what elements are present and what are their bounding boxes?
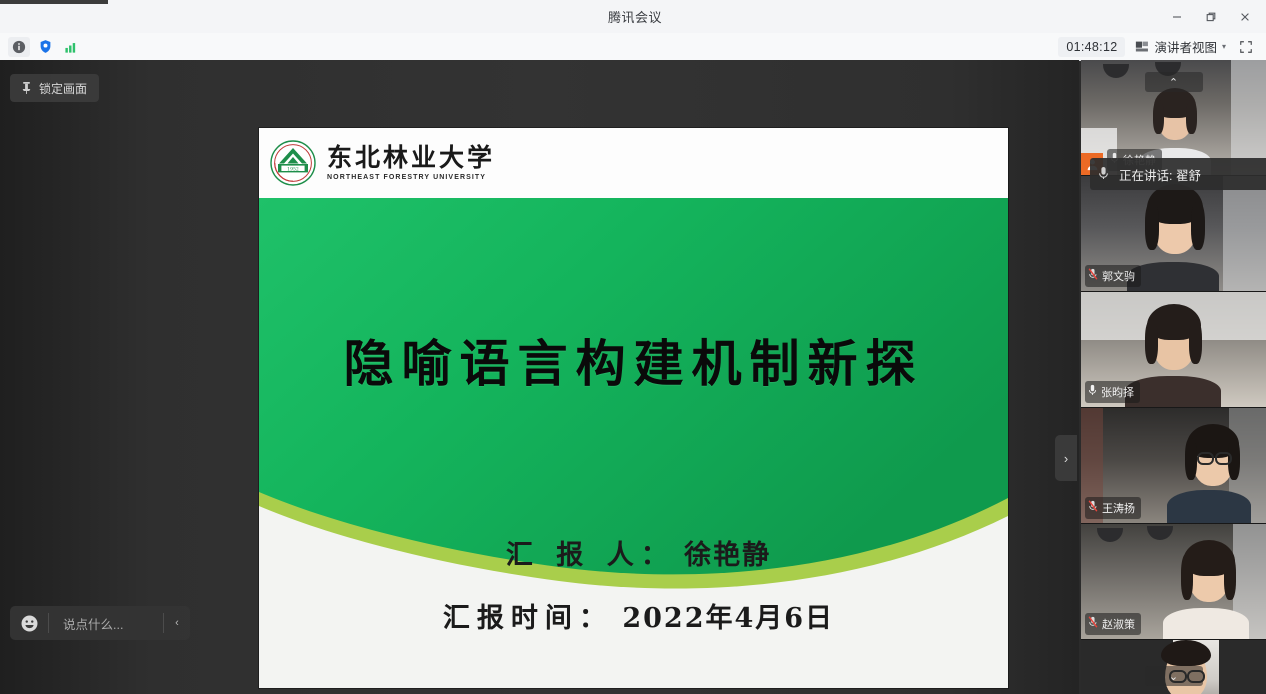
chat-input-bar[interactable]: 说点什么... ‹	[10, 606, 190, 640]
mic-on-icon	[1088, 383, 1097, 401]
scroll-down-button[interactable]: ⌄	[1145, 666, 1203, 686]
participant-name-chip: 王涛扬	[1085, 497, 1141, 519]
participant-video-strip[interactable]: 徐艳静 郭文驹	[1081, 60, 1266, 694]
network-signal-icon[interactable]	[60, 37, 82, 57]
date-label: 汇报时间：	[443, 603, 613, 634]
lock-screen-label: 锁定画面	[39, 80, 87, 97]
info-icon[interactable]	[8, 37, 30, 57]
restore-button[interactable]	[1194, 1, 1228, 33]
speaking-toast-text: 正在讲话: 翟舒	[1119, 165, 1201, 184]
participant-tile[interactable]: 郭文驹	[1081, 176, 1266, 292]
university-logo: 1952 东北林业大学 NORTHEAST FORESTRY UNIVERSIT…	[269, 139, 495, 187]
logo-text-block: 东北林业大学 NORTHEAST FORESTRY UNIVERSITY	[327, 145, 495, 181]
mic-muted-icon	[1088, 267, 1098, 285]
presentation-slide: 1952 东北林业大学 NORTHEAST FORESTRY UNIVERSIT…	[259, 128, 1008, 688]
logo-name-cn: 东北林业大学	[327, 145, 495, 170]
mic-muted-icon	[1088, 499, 1098, 517]
shield-icon[interactable]	[34, 37, 56, 57]
slide-title: 隐喻语言构建机制新探	[259, 324, 1008, 396]
mic-muted-icon	[1088, 615, 1098, 633]
lock-screen-button[interactable]: 锁定画面	[10, 74, 99, 102]
participant-tile[interactable]: 赵淑策	[1081, 524, 1266, 640]
collapse-panel-button[interactable]: ›	[1055, 435, 1077, 481]
participant-name: 张昀择	[1101, 384, 1134, 400]
presenter-label: 汇 报 人：	[506, 540, 675, 571]
window-controls	[1160, 0, 1266, 33]
participant-name: 郭文驹	[1102, 268, 1135, 284]
tencent-meeting-window: 腾讯会议	[0, 0, 1266, 694]
participant-tile[interactable]: 王涛扬	[1081, 408, 1266, 524]
emoji-icon[interactable]	[10, 606, 48, 640]
speaking-toast: 正在讲话: 翟舒	[1090, 158, 1266, 190]
participant-name-chip: 郭文驹	[1085, 265, 1141, 287]
view-mode-label: 演讲者视图	[1154, 37, 1217, 56]
svg-text:1952: 1952	[287, 166, 299, 172]
slide-meta-row: 汇 报 人： 徐艳静	[259, 533, 1008, 572]
date-value: 2022年4月6日	[622, 603, 834, 634]
slide-header: 1952 东北林业大学 NORTHEAST FORESTRY UNIVERSIT…	[259, 128, 1008, 198]
view-mode-selector[interactable]: 演讲者视图 ▾	[1135, 37, 1226, 56]
titlebar-left-spacer	[0, 0, 110, 33]
pin-icon	[20, 81, 33, 95]
chat-input[interactable]: 说点什么...	[49, 606, 163, 640]
toolbar-icon-group	[0, 37, 82, 57]
fullscreen-icon[interactable]	[1236, 37, 1256, 57]
toolbar-right-group: 01:48:12 演讲者视图 ▾	[1058, 37, 1266, 57]
participant-tile[interactable]: 张昀择	[1081, 292, 1266, 408]
title-bar: 腾讯会议	[0, 0, 1266, 34]
microphone-icon	[1098, 166, 1109, 183]
titlebar-tab-nub	[0, 0, 108, 4]
chat-collapse-icon[interactable]: ‹	[164, 606, 190, 640]
slide-meta-block: 汇 报 人： 徐艳静 汇报时间： 2022年4月6日	[259, 533, 1008, 659]
speaker-view-icon	[1135, 40, 1149, 53]
nefu-emblem-icon: 1952	[269, 139, 317, 187]
participant-name: 王涛扬	[1102, 500, 1135, 516]
close-button[interactable]	[1228, 1, 1262, 33]
participant-name: 赵淑策	[1102, 616, 1135, 632]
shared-screen-stage: 锁定画面 1952	[0, 60, 1079, 694]
meeting-timer: 01:48:12	[1058, 37, 1125, 57]
logo-name-en: NORTHEAST FORESTRY UNIVERSITY	[327, 174, 495, 181]
minimize-button[interactable]	[1160, 1, 1194, 33]
presenter-name: 徐艳静	[684, 540, 771, 571]
scroll-up-button[interactable]: ⌃	[1145, 72, 1203, 92]
window-title: 腾讯会议	[110, 7, 1160, 26]
meeting-toolbar: 01:48:12 演讲者视图 ▾	[0, 33, 1266, 61]
chevron-down-icon: ▾	[1222, 42, 1226, 51]
participant-name-chip: 张昀择	[1085, 381, 1140, 403]
slide-meta-row: 汇报时间： 2022年4月6日	[259, 596, 1008, 635]
participant-name-chip: 赵淑策	[1085, 613, 1141, 635]
